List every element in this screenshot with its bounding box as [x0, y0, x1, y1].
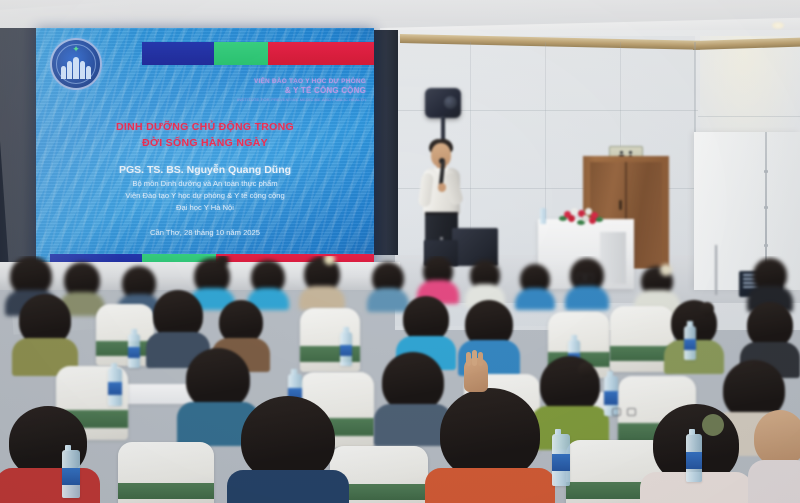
door-handle[interactable] [619, 200, 622, 210]
bottle-label [128, 347, 140, 359]
bottle-label [108, 382, 122, 395]
slide-date-location: Cần Thơ, 28 tháng 10 năm 2025 [36, 228, 374, 237]
wall-tile-line [620, 42, 621, 157]
person-torso [748, 460, 800, 503]
slide-band-green [214, 42, 268, 65]
projection-screen: ✦ VIỆN ĐÀO TẠO Y HỌC DỰ PHÒNG & Y TẾ CÔN… [36, 28, 374, 278]
conference-chair [118, 442, 214, 503]
person-hair-bun [702, 414, 724, 436]
audience-member [300, 256, 344, 308]
water-bottle [684, 326, 696, 360]
partition-hinge [764, 170, 768, 173]
presenter-hand [438, 183, 446, 192]
person-torso [227, 470, 349, 503]
bottle-label [340, 345, 352, 357]
person-hair-bun [578, 362, 594, 378]
water-bottle [128, 334, 140, 368]
slide-header-line1: VIỆN ĐÀO TẠO Y HỌC DỰ PHÒNG [216, 78, 366, 85]
slide-header-text: VIỆN ĐÀO TẠO Y HỌC DỰ PHÒNG & Y TẾ CÔNG … [216, 78, 366, 102]
bottle-label [686, 452, 702, 468]
slide-band-red [268, 42, 374, 65]
flower-arrangement [559, 206, 605, 224]
raised-hand [460, 352, 494, 396]
audience-member [752, 410, 800, 503]
slide-author: PGS. TS. BS. Nguyễn Quang Dũng [36, 164, 374, 176]
water-bottle [340, 332, 352, 366]
audience-member [516, 264, 554, 308]
person-torso [565, 286, 609, 310]
university-emblem-icon: ✦ [50, 38, 102, 90]
audience-area [0, 256, 800, 503]
bottle-label [62, 468, 80, 484]
eyeglasses-icon [576, 274, 594, 280]
partition-hinge [764, 206, 768, 209]
person-head [754, 410, 800, 466]
person-torso [299, 286, 345, 310]
person-torso [425, 468, 555, 503]
slide-content: DINH DƯỠNG CHỦ ĐỘNG TRONG ĐỜI SỐNG HÀNG … [36, 120, 374, 237]
audience-member [430, 388, 550, 503]
chair-sash [118, 483, 214, 499]
finger [472, 350, 477, 366]
audience-member [14, 294, 76, 370]
person-torso [0, 468, 100, 503]
person-torso [515, 288, 555, 310]
bottle-label [684, 339, 696, 351]
emblem-figures [61, 49, 91, 79]
slide-affiliation-3: Đại học Y Hà Nội [36, 203, 374, 212]
water-bottle [686, 434, 702, 482]
audience-member [566, 258, 608, 308]
water-bottle [108, 368, 122, 406]
audience-member [0, 406, 96, 503]
wall-tile-line [698, 116, 800, 117]
slide-header-line2: & Y TẾ CÔNG CỘNG [216, 86, 366, 95]
right-dark-column [372, 30, 398, 255]
person-hair-bun [700, 302, 714, 316]
person-hair-bun [660, 264, 672, 276]
conference-photo: ✦ VIỆN ĐÀO TẠO Y HỌC DỰ PHÒNG & Y TẾ CÔN… [0, 0, 800, 503]
bottle-label [604, 391, 618, 405]
slide-band-blue [142, 42, 214, 65]
partition-hinge [764, 244, 768, 247]
finger [478, 352, 483, 366]
wall-tile-line [470, 42, 471, 252]
slide-affiliation-2: Viện Đào tạo Y học dự phòng & Y tế công … [36, 191, 374, 200]
slide-header-line3: INSTITUTE FOR PREVENTIVE MEDICINE AND PU… [216, 97, 366, 102]
person-head [440, 388, 540, 480]
table-water-bottle [540, 208, 546, 224]
bottle-label [552, 454, 570, 472]
ceiling-downlight [772, 22, 784, 29]
water-bottle [552, 434, 570, 486]
eyeglasses-on-table [612, 408, 636, 416]
stage-light-fixture [425, 88, 461, 118]
left-dark-column [0, 28, 38, 273]
slide-title-line1: DINH DƯỠNG CHỦ ĐỘNG TRONG [36, 120, 374, 136]
finger [466, 352, 471, 366]
slide-title-line2: ĐỜI SỐNG HÀNG NGÀY [36, 136, 374, 152]
slide-affiliation-1: Bộ môn Dinh dưỡng và An toàn thực phẩm [36, 179, 374, 188]
water-bottle [62, 450, 80, 498]
audience-member [232, 396, 344, 503]
